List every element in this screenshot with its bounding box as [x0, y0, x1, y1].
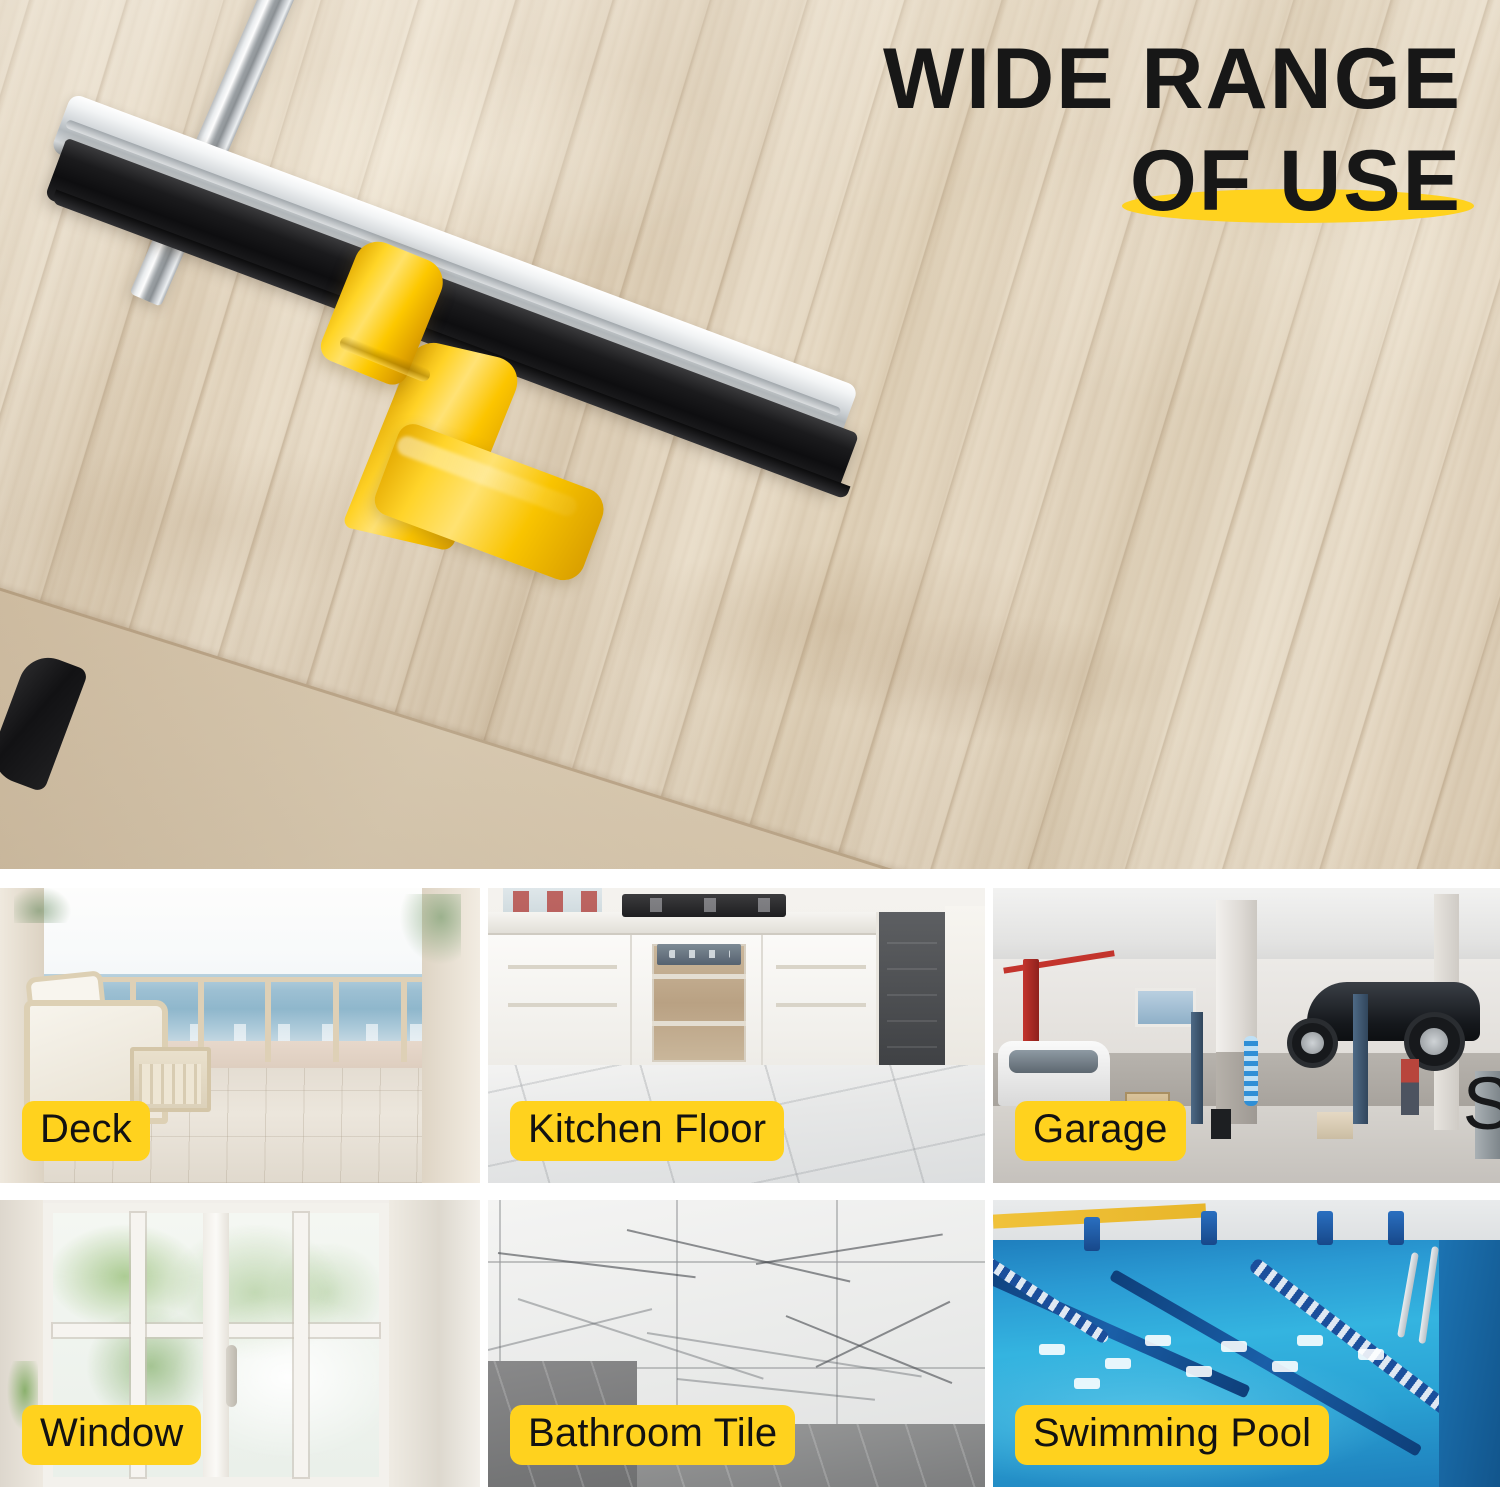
pool-floor-marker — [1039, 1344, 1065, 1355]
kitchen-drawer-handle — [776, 1003, 865, 1007]
window-curtain-right — [389, 1200, 480, 1487]
pool-floor-marker — [1105, 1358, 1131, 1369]
garage-stool — [1211, 1109, 1231, 1139]
kitchen-gas-hob — [622, 894, 786, 918]
kitchen-countertop-items — [513, 891, 597, 912]
pool-floor-marker — [1186, 1366, 1212, 1377]
kitchen-cabinet-right — [761, 935, 875, 1065]
badge-kitchen-floor: Kitchen Floor — [510, 1101, 784, 1161]
pool-floor-marker — [1074, 1378, 1100, 1389]
oven-control-panel — [657, 944, 741, 965]
pool-floor-marker — [1221, 1341, 1247, 1352]
window-mullion-vertical — [294, 1213, 308, 1477]
pool-far-wall — [1439, 1240, 1500, 1487]
squeegee-blade-end-cap — [0, 649, 89, 792]
garage-interior-window — [1135, 988, 1196, 1026]
kitchen-drawer-handle — [508, 1003, 617, 1007]
headline-line-2: OF USE — [1130, 138, 1462, 226]
use-case-card-bathroom-tile[interactable]: Bathroom Tile — [488, 1200, 985, 1487]
use-case-card-swimming-pool[interactable]: Swimming Pool — [993, 1200, 1500, 1487]
pool-starting-block — [1084, 1217, 1100, 1251]
window-center-stile — [203, 1213, 229, 1477]
use-case-grid: Deck Kitchen Floor — [0, 888, 1500, 1487]
badge-swimming-pool: Swimming Pool — [1015, 1405, 1329, 1465]
deck-palm-leaf-left — [14, 888, 76, 923]
deck-palm-leaf-right — [394, 894, 461, 971]
use-case-card-window[interactable]: Window — [0, 1200, 480, 1487]
use-case-card-kitchen-floor[interactable]: Kitchen Floor — [488, 888, 985, 1183]
pool-floor-marker — [1145, 1335, 1171, 1346]
pool-starting-block — [1388, 1211, 1404, 1245]
hero-banner: WIDE RANGE OF USE — [0, 0, 1500, 869]
garage-cardboard-box — [1317, 1112, 1352, 1139]
kitchen-fridge — [876, 912, 946, 1089]
kitchen-cabinet-left — [488, 935, 632, 1065]
kitchen-drawer-handle — [508, 965, 617, 969]
badge-garage: Garage — [1015, 1101, 1186, 1161]
window-handle[interactable] — [226, 1345, 237, 1407]
use-case-card-garage[interactable]: Garage S — [993, 888, 1500, 1183]
oven-shelf — [652, 1021, 746, 1026]
badge-deck: Deck — [22, 1101, 150, 1161]
squeegee-product-image — [0, 0, 1500, 869]
garage-white-car — [998, 1041, 1110, 1106]
badge-window: Window — [22, 1405, 201, 1465]
pool-floor-marker — [1297, 1335, 1323, 1346]
oven-shelf — [652, 974, 746, 979]
use-case-card-deck[interactable]: Deck — [0, 888, 480, 1183]
badge-bathroom-tile: Bathroom Tile — [510, 1405, 795, 1465]
garage-car-lift-post — [1191, 1012, 1204, 1124]
pool-starting-block — [1201, 1211, 1217, 1245]
pool-floor-marker — [1358, 1349, 1384, 1360]
headline-line-2-wrapper: OF USE — [1130, 138, 1462, 226]
car-wheel — [1287, 1018, 1338, 1068]
pool-starting-block — [1317, 1211, 1333, 1245]
pool-floor-marker — [1272, 1361, 1298, 1372]
edge-letter-mark: S — [1463, 1067, 1500, 1141]
garage-car-lift-post — [1353, 994, 1368, 1124]
kitchen-tall-cabinet — [945, 906, 985, 1089]
garage-air-hose — [1244, 1036, 1258, 1107]
kitchen-drawer-handle — [776, 965, 865, 969]
garage-mechanic — [1401, 1059, 1419, 1115]
